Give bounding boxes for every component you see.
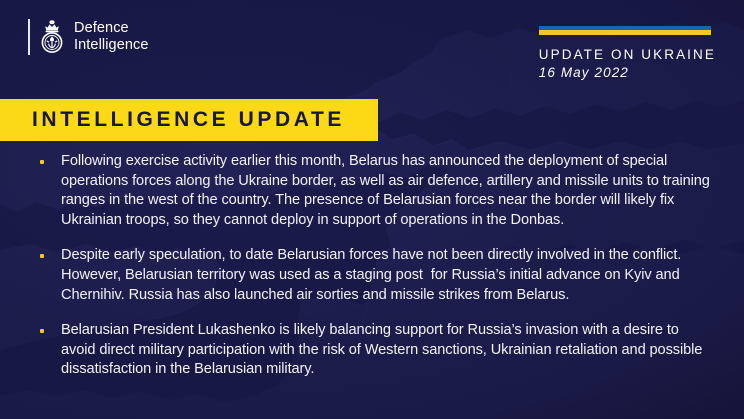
header: Defence Intelligence UPDATE ON UKRAINE 1…: [0, 0, 744, 99]
update-title: UPDATE ON UKRAINE: [539, 46, 716, 63]
brand-line-2: Intelligence: [74, 37, 149, 54]
list-item: Despite early speculation, to date Belar…: [40, 246, 716, 305]
defence-intelligence-crest-icon: [39, 19, 65, 55]
bullet-text: Despite early speculation, to date Belar…: [61, 246, 716, 305]
bullet-list: Following exercise activity earlier this…: [40, 152, 716, 380]
update-date: 16 May 2022: [539, 64, 716, 82]
intelligence-update-poster: Defence Intelligence UPDATE ON UKRAINE 1…: [0, 0, 744, 419]
ukraine-flag-bar-icon: [539, 26, 711, 35]
flag-stripe-yellow: [539, 30, 711, 35]
brand-lockup: Defence Intelligence: [28, 19, 149, 55]
bullet-text: Following exercise activity earlier this…: [61, 152, 716, 230]
banner-label: INTELLIGENCE UPDATE: [0, 108, 345, 132]
bullet-text: Belarusian President Lukashenko is likel…: [61, 321, 716, 380]
bullet-marker-icon: [40, 254, 44, 258]
brand-line-1: Defence: [74, 20, 149, 37]
list-item: Following exercise activity earlier this…: [40, 152, 716, 230]
intelligence-update-banner: INTELLIGENCE UPDATE: [0, 99, 378, 141]
brand-divider-rule: [28, 19, 30, 55]
list-item: Belarusian President Lukashenko is likel…: [40, 321, 716, 380]
bullet-marker-icon: [40, 160, 44, 164]
bullet-marker-icon: [40, 329, 44, 333]
update-header-block: UPDATE ON UKRAINE 16 May 2022: [539, 26, 716, 82]
brand-name: Defence Intelligence: [74, 20, 149, 54]
